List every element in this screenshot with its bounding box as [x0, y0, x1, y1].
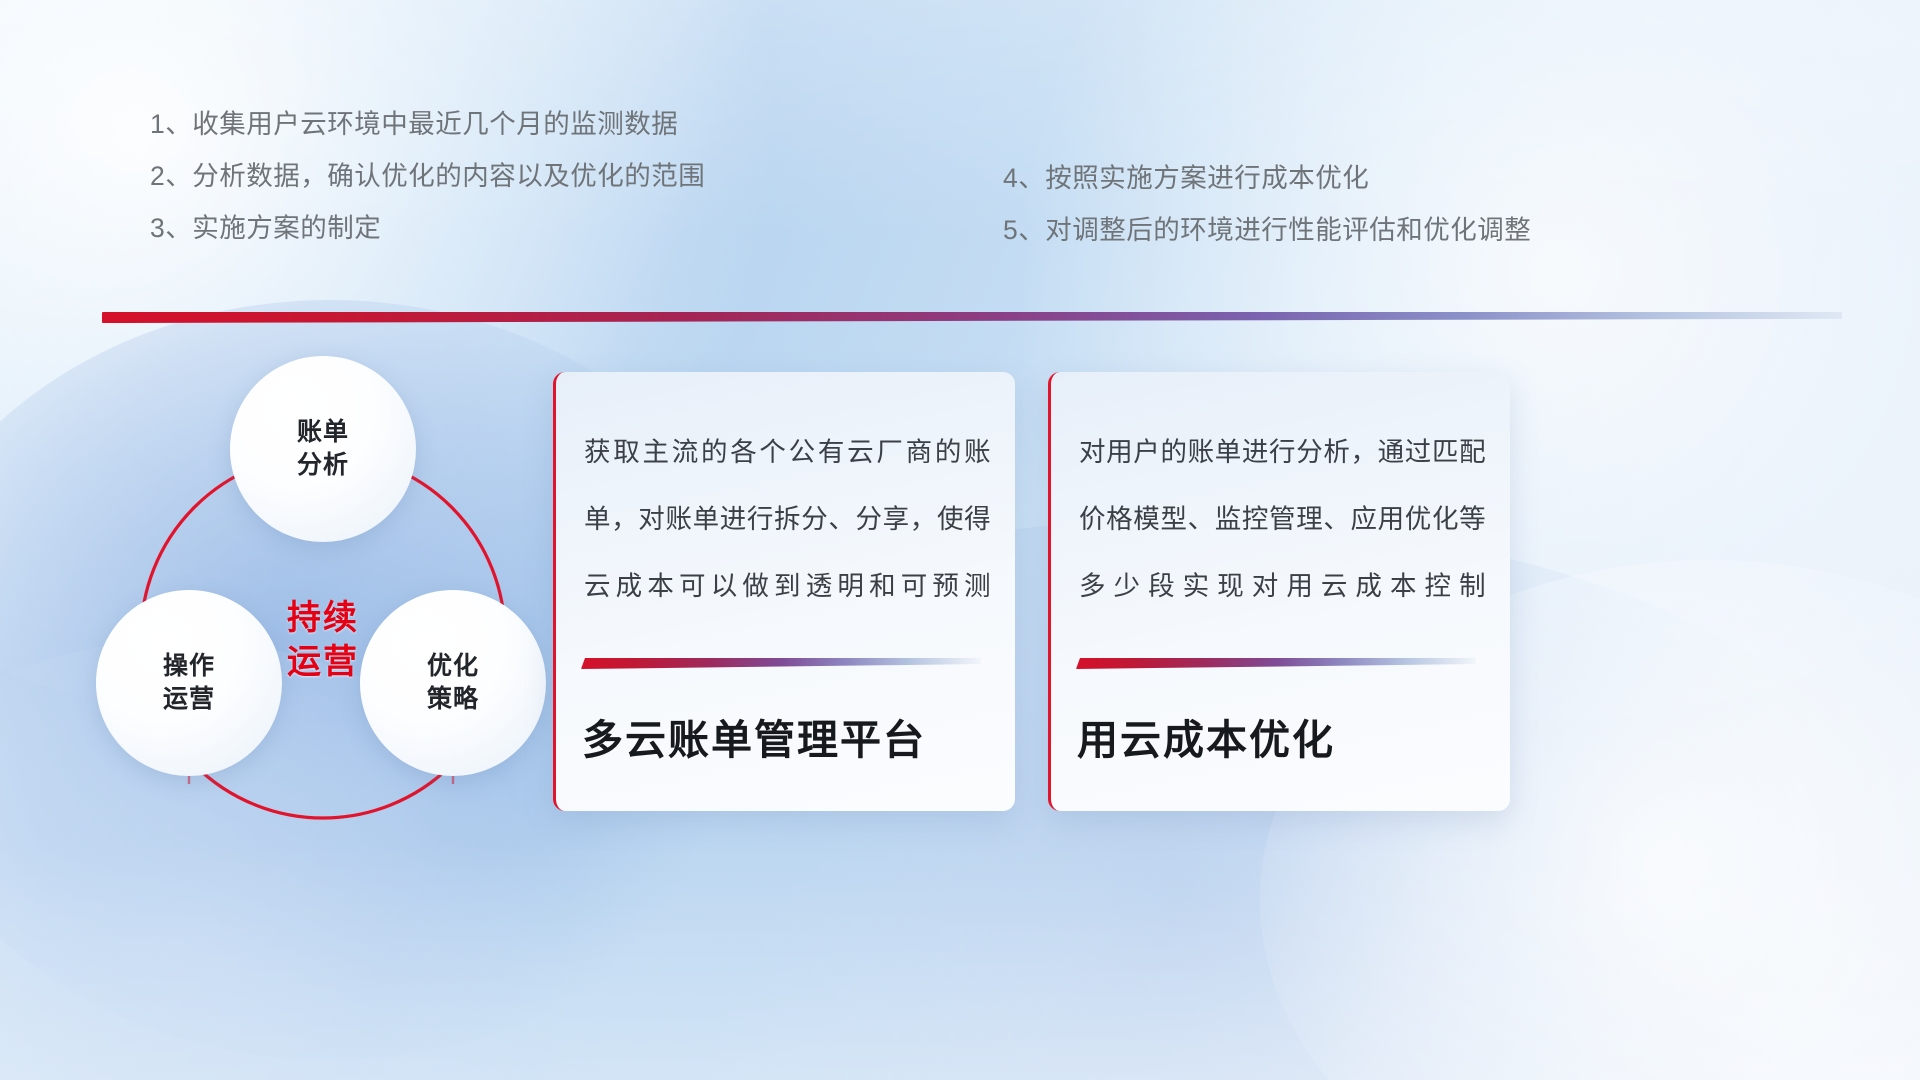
diagram-center-label-line2: 运营 — [230, 640, 416, 684]
card-title: 多云账单管理平台 — [582, 706, 995, 766]
card-cloud-cost-optimization[interactable]: 对用户的账单进行分析，通过匹配价格模型、监控管理、应用优化等多少段实现对用云成本… — [1048, 372, 1510, 811]
steps-column-left: 1、收集用户云环境中最近几个月的监测数据 2、分析数据，确认优化的内容以及优化的… — [150, 98, 705, 254]
diagram-node-bill-analysis[interactable]: 账单 分析 — [230, 356, 416, 542]
step-item-3: 3、实施方案的制定 — [150, 202, 705, 254]
card-multi-cloud-bill-platform[interactable]: 获取主流的各个公有云厂商的账单，对账单进行拆分、分享，使得云成本可以做到透明和可… — [553, 372, 1015, 811]
card-title: 用云成本优化 — [1077, 706, 1490, 766]
diagram-node-bill-analysis-label: 账单 分析 — [230, 416, 416, 482]
step-item-5: 5、对调整后的环境进行性能评估和优化调整 — [1003, 204, 1531, 256]
card-divider-rule — [581, 658, 981, 669]
continuous-operation-diagram: 账单 分析 操作 运营 优化 策略 持续 运营 — [88, 356, 608, 916]
card-body-text: 对用户的账单进行分析，通过匹配价格模型、监控管理、应用优化等多少段实现对用云成本… — [1079, 419, 1486, 620]
node-label-line1: 账单 — [230, 416, 416, 449]
steps-section: 1、收集用户云环境中最近几个月的监测数据 2、分析数据，确认优化的内容以及优化的… — [0, 0, 1920, 250]
diagram-center-label: 持续 运营 — [230, 596, 416, 684]
card-divider-rule — [1076, 658, 1476, 669]
step-item-2: 2、分析数据，确认优化的内容以及优化的范围 — [150, 150, 705, 202]
node-label-line2: 分析 — [230, 449, 416, 482]
step-item-1: 1、收集用户云环境中最近几个月的监测数据 — [150, 98, 705, 150]
card-body-text: 获取主流的各个公有云厂商的账单，对账单进行拆分、分享，使得云成本可以做到透明和可… — [584, 419, 991, 620]
diagram-center-label-line1: 持续 — [230, 596, 416, 640]
step-item-4: 4、按照实施方案进行成本优化 — [1003, 152, 1531, 204]
node-label-line2: 运营 — [96, 683, 282, 716]
node-label-line2: 策略 — [360, 683, 546, 716]
steps-column-right: 4、按照实施方案进行成本优化 5、对调整后的环境进行性能评估和优化调整 — [1003, 152, 1531, 256]
